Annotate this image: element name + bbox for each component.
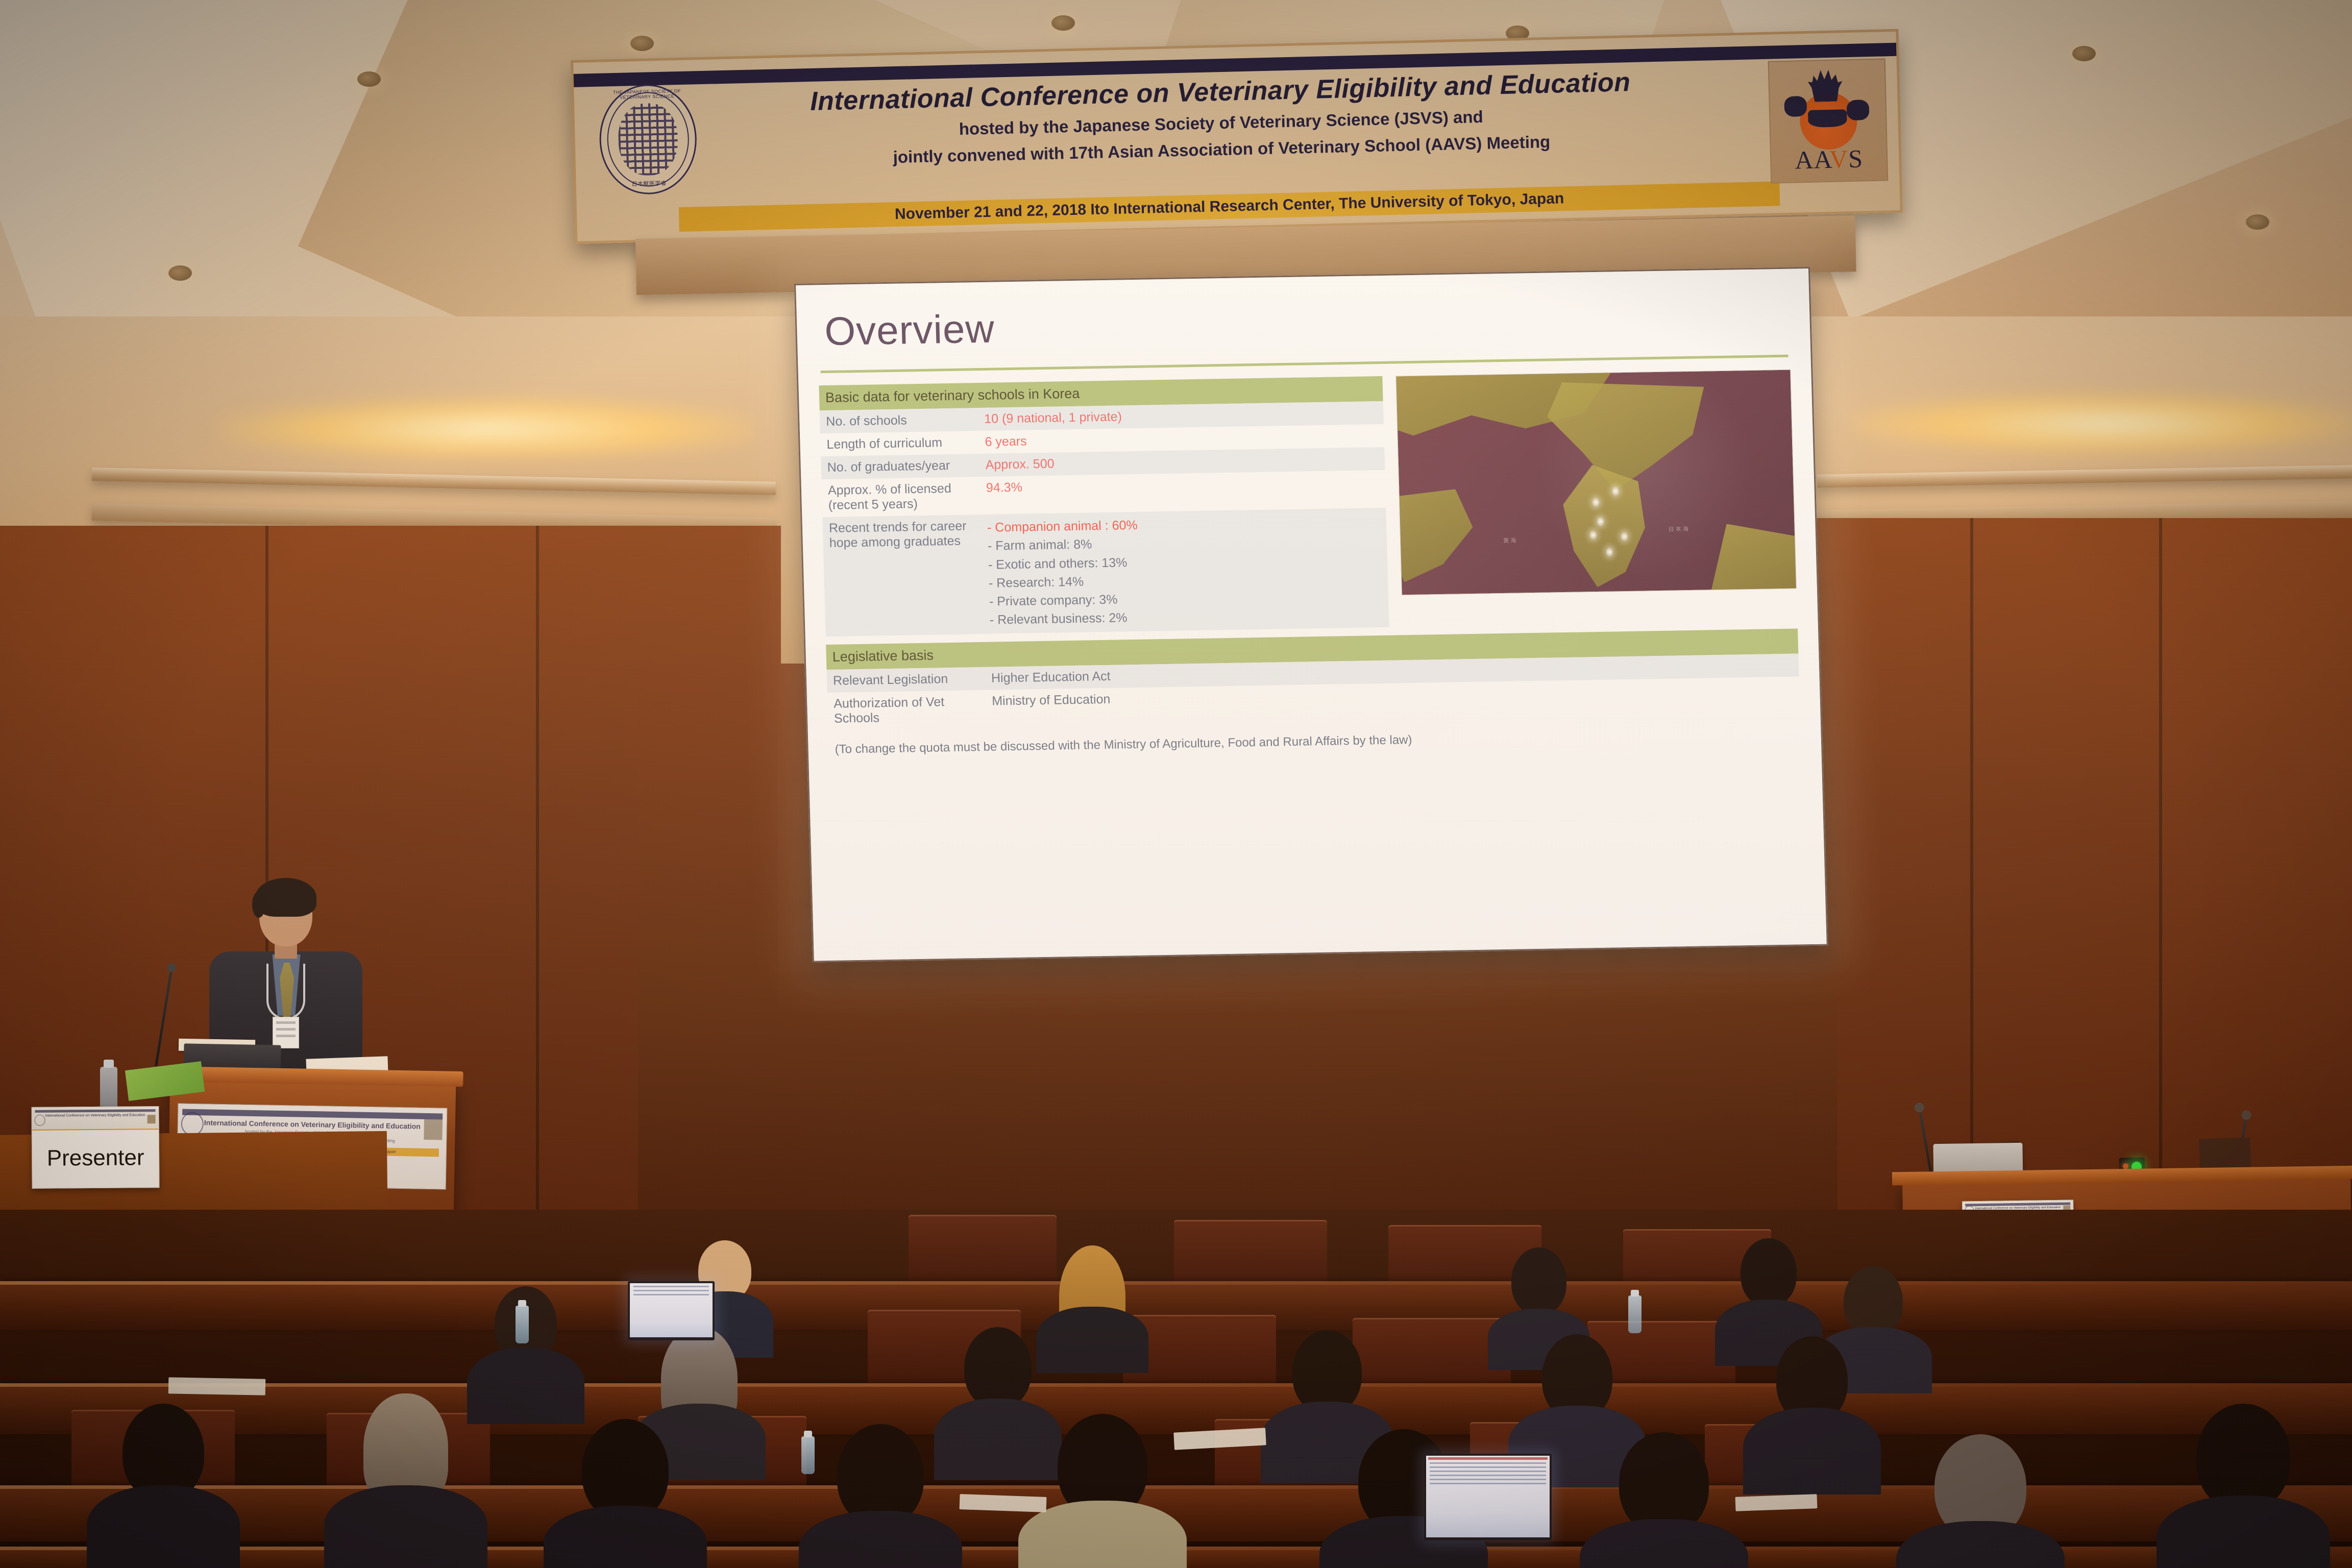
water-bottle (516, 1306, 529, 1343)
ceiling-downlight-icon (2072, 46, 2096, 61)
ceiling-downlight-icon (1051, 15, 1075, 31)
attendee-laptop[interactable] (1424, 1454, 1552, 1540)
name-badge (273, 1017, 299, 1048)
conference-banner: THE JAPANESE SOCIETY OF VETERINARY SCIEN… (571, 29, 1903, 244)
water-bottle (1628, 1295, 1641, 1333)
water-bottle (801, 1436, 815, 1474)
ceiling-downlight-icon (630, 36, 654, 51)
presenter-placard-label: Presenter (32, 1130, 159, 1171)
aavs-logo-icon: AAVS (1768, 58, 1889, 183)
handout-paper (960, 1494, 1047, 1512)
row-label: Approx. % of licensed (recent 5 years) (821, 477, 981, 517)
attendee (1771, 1336, 1853, 1494)
ceiling-downlight-icon (357, 71, 381, 87)
slide-title-rule (821, 355, 1788, 373)
attendee (357, 1393, 454, 1568)
row-value: 94.3% (979, 470, 1386, 514)
conference-hall-scene: THE JAPANESE SOCIETY OF VETERINARY SCIEN… (0, 0, 2352, 1568)
seat (909, 1215, 1057, 1286)
attendee (1613, 1432, 1715, 1568)
presenter-placard: International Conference on Veterinary E… (31, 1106, 159, 1189)
ceiling-downlight-icon (168, 265, 192, 281)
table-row-trends: Recent trends for career hope among grad… (822, 508, 1389, 636)
ceiling-downlight-icon (2246, 214, 2269, 230)
basic-data-table: No. of schools 10 (9 national, 1 private… (820, 401, 1389, 636)
audience-seating (0, 1210, 2352, 1568)
attendee (1929, 1434, 2031, 1568)
attendee (117, 1404, 209, 1568)
attendee (1051, 1414, 1154, 1568)
aavs-logo-icon (148, 1115, 156, 1123)
cove-light-left (219, 398, 755, 459)
attendee (832, 1424, 929, 1568)
handout-paper (168, 1377, 266, 1395)
attendee (577, 1419, 674, 1568)
attendee (960, 1327, 1036, 1480)
handout-paper (1735, 1494, 1818, 1511)
slide-title: Overview (817, 286, 1790, 352)
presentation-slide: Overview Basic data for veterinary schoo… (796, 268, 1827, 961)
row-label: Length of curriculum (820, 431, 979, 456)
attendee (2190, 1404, 2297, 1568)
cove-light-right (1853, 393, 2352, 454)
row-label: No. of schools (820, 408, 978, 433)
attendee (1057, 1245, 1128, 1373)
projection-screen: Overview Basic data for veterinary schoo… (794, 267, 1828, 963)
row-label: No. of graduates/year (821, 454, 979, 479)
career-trend-list: - Companion animal : 60% - Farm animal: … (981, 508, 1389, 634)
red-light-icon (2123, 1163, 2128, 1169)
attendee-laptop[interactable] (628, 1281, 715, 1340)
row-label: Relevant Legislation (826, 667, 985, 692)
jsvs-seal-icon (35, 1115, 45, 1126)
korea-satellite-map-image: 黄 海 日 本 海 (1396, 370, 1797, 596)
row-label: Recent trends for career hope among grad… (822, 514, 984, 636)
wood-wall-right (1802, 518, 2352, 1243)
row-label: Authorization of Vet Schools (827, 690, 987, 730)
placard-banner-title: International Conference on Veterinary E… (32, 1113, 159, 1118)
